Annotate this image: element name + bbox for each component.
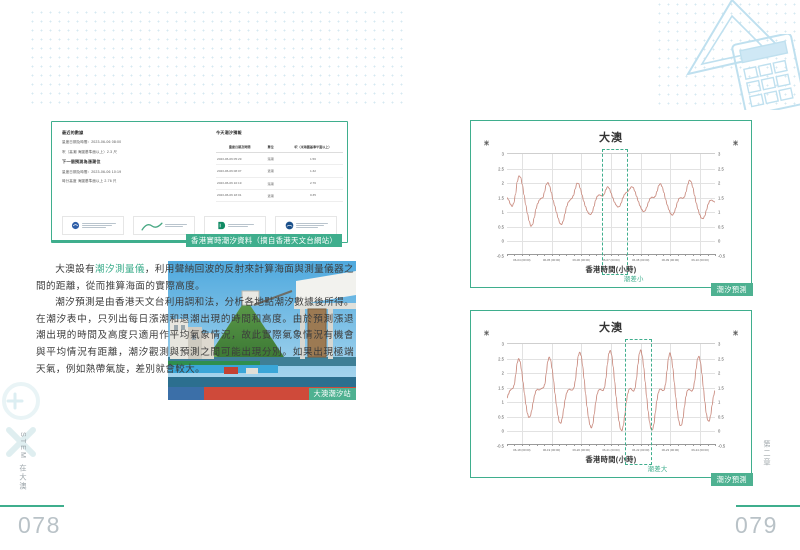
table-cell: 2023-06-06 08:07 (216, 165, 263, 177)
y-axis-tick-left: 0 (502, 239, 504, 244)
x-axis-tick: 06-09 (00:00) (662, 258, 679, 262)
photo-caption: 大澳潮汐站 (309, 388, 356, 400)
latest-data-line-2: 呎（高潮 海圖基準面以上）2.3 尺 (62, 150, 212, 155)
y-axis-tick-left: 1 (502, 400, 504, 405)
logo-tai-o-studio (133, 216, 195, 235)
x-axis-tick: 06-21 (00:00) (602, 448, 619, 452)
logo-hko (62, 216, 124, 235)
y-axis-tick-left: 2.5 (498, 356, 504, 361)
left-page: 最近的數據 量度日期及時間：2023-06-06 08:00 呎（高潮 海圖基準… (0, 0, 400, 550)
y-axis-tick-left: 1.5 (498, 385, 504, 390)
dot-grid-decoration-right (655, 0, 800, 108)
y-axis-tick-right: 1.5 (718, 195, 724, 200)
chapter-side-label-left: STEM 在大澳 (18, 432, 28, 492)
chart-badge-bottom: 潮汐預測 (711, 473, 753, 486)
y-axis-tick-left: 0.5 (498, 224, 504, 229)
y-axis-tick-left: 3 (502, 152, 504, 157)
table-cell: 退潮 (263, 165, 278, 177)
logo-text-lines (228, 224, 254, 227)
x-axis-tick: 06-20 (00:00) (573, 448, 590, 452)
paragraph-1-pre: 大澳設有 (55, 264, 95, 275)
y-axis-tick-left: 2.5 (498, 166, 504, 171)
x-axis-tick: 06-18 (00:00) (513, 448, 530, 452)
y-axis-tick-right: -0.5 (718, 254, 725, 259)
tide-series-line (507, 344, 715, 446)
y-axis-tick-right: 2.5 (718, 166, 724, 171)
table-row: 2023-06-06 18:01退潮0.35 (216, 189, 343, 201)
logo-text-lines (165, 224, 187, 227)
x-axis-tick: 06-10 (00:00) (691, 258, 708, 262)
hko-logo-icon (71, 221, 80, 230)
y-axis-tick-right: 3 (718, 342, 720, 347)
table-cell: 2023-06-06 10:19 (216, 177, 263, 189)
screenshot-caption: 香港實時潮汐資料（摘自香港天文台網站） (186, 234, 342, 247)
paragraph-1: 大澳設有潮汐測量儀，利用聲納回波的反射來計算海面與測量儀器之間的距離，從而推算海… (36, 262, 354, 295)
highlight-annotation: 潮差大 (648, 464, 668, 473)
paragraph-1-highlight: 潮汐測量儀 (95, 264, 145, 275)
footer-rule-left (0, 505, 64, 507)
table-cell: 2023-06-06 18:01 (216, 189, 263, 201)
y-axis-tick-right: 1 (718, 400, 720, 405)
y-axis-unit-left-top: 米 (484, 140, 489, 147)
y-axis-tick-right: -0.5 (718, 444, 725, 449)
table-cell: 1.56 (278, 153, 343, 165)
y-axis-unit-right-top: 米 (733, 140, 738, 147)
highlight-annotation: 潮差小 (624, 274, 644, 283)
jockey-club-logo-icon (217, 221, 226, 230)
x-axis-tick-mark (715, 254, 716, 256)
y-axis-tick-left: 3 (502, 342, 504, 347)
x-axis-tick: 06-05 (00:00) (543, 258, 560, 262)
table-cell: 2023-06-06 05:29 (216, 153, 263, 165)
dot-grid-decoration (28, 8, 408, 108)
column-header-datetime: 量度日期及時間 (216, 141, 263, 153)
logo-jockey-club (204, 216, 266, 235)
triangle-ruler-icon (672, 0, 792, 80)
x-axis-tick-mark (715, 444, 716, 446)
body-copy: 大澳設有潮汐測量儀，利用聲納回波的反射來計算海面與測量儀器之間的距離，從而推算海… (36, 262, 354, 378)
y-axis-tick-left: 1 (502, 210, 504, 215)
table-cell: 0.35 (278, 189, 343, 201)
y-axis-tick-left: 2 (502, 371, 504, 376)
today-forecast-column: 今天潮汐預報 量度日期及時間 單位 呎（米海圖基準平面以上） 2023-06-0… (216, 130, 343, 202)
caption-rule (51, 240, 187, 242)
logo-text-lines (82, 223, 116, 228)
paragraph-2: 潮汐預測是由香港天文台利用調和法，分析各地點潮汐數據後所得。在潮汐表中，只列出每… (36, 295, 354, 378)
chart-title-bottom: 大澳 (471, 319, 751, 335)
logo-text-lines (296, 223, 328, 228)
next-forecast-line-2: 時分高度 海圖基準面以上 2.76 尺 (62, 179, 212, 184)
y-axis-tick-right: 1 (718, 210, 720, 215)
y-axis-tick-left: 0.5 (498, 414, 504, 419)
eduhk-logo-icon (285, 221, 294, 230)
table-body: 2023-06-06 05:29漲潮1.562023-06-06 08:07退潮… (216, 153, 343, 202)
y-axis-tick-left: -0.5 (497, 254, 504, 259)
table-cell: 漲潮 (263, 153, 278, 165)
table-header-row: 量度日期及時間 單位 呎（米海圖基準平面以上） (216, 141, 343, 153)
y-axis-tick-left: -0.5 (497, 444, 504, 449)
y-axis-tick-right: 2 (718, 371, 720, 376)
y-axis-unit-right-bottom: 米 (733, 330, 738, 337)
y-axis-unit-left-bottom: 米 (484, 330, 489, 337)
chart-title-top: 大澳 (471, 129, 751, 145)
neap-tide-chart-card: 大澳 米 米 332.52.5221.51.5110.50.500-0.5-0.… (470, 120, 752, 288)
y-axis-tick-right: 0.5 (718, 224, 724, 229)
table-row: 2023-06-06 08:07退潮1.32 (216, 165, 343, 177)
x-axis-tick: 06-08 (00:00) (632, 258, 649, 262)
latest-data-column: 最近的數據 量度日期及時間：2023-06-06 08:00 呎（高潮 海圖基準… (62, 130, 212, 189)
highlight-box (602, 149, 628, 275)
latest-data-heading: 最近的數據 (62, 130, 212, 136)
y-axis-tick-left: 2 (502, 181, 504, 186)
x-axis-tick: 06-19 (00:00) (543, 448, 560, 452)
calculator-icon (730, 34, 800, 110)
ring-decoration-icon (0, 380, 42, 422)
mountain-logo-icon (141, 220, 163, 232)
y-axis-tick-left: 1.5 (498, 195, 504, 200)
plus-mark-icon (6, 392, 24, 410)
page-number-right: 079 (735, 512, 778, 539)
x-axis-tick: 06-23 (00:00) (662, 448, 679, 452)
plot-area-bottom: 332.52.5221.51.5110.50.500-0.5-0.506-18 … (507, 343, 715, 445)
partner-logo-strip (62, 216, 337, 235)
y-axis-tick-right: 2.5 (718, 356, 724, 361)
page-number-left: 078 (18, 512, 61, 539)
table-row: 2023-06-06 10:19漲潮2.76 (216, 177, 343, 189)
x-axis-tick: 06-24 (00:00) (691, 448, 708, 452)
column-header-height: 呎（米海圖基準平面以上） (278, 141, 343, 153)
column-header-unit: 單位 (263, 141, 278, 153)
y-axis-tick-right: 0 (718, 239, 720, 244)
y-axis-tick-right: 2 (718, 181, 720, 186)
screenshot-content: 最近的數據 量度日期及時間：2023-06-06 08:00 呎（高潮 海圖基準… (56, 126, 343, 238)
x-axis-label-top: 香港時間(小時) (471, 265, 751, 275)
latest-data-line-1: 量度日期及時間：2023-06-06 08:00 (62, 140, 212, 145)
logo-eduhk (275, 216, 337, 235)
highlight-box (625, 339, 652, 465)
table-cell: 1.32 (278, 165, 343, 177)
footer-rule-right (736, 505, 800, 507)
tide-forecast-table: 量度日期及時間 單位 呎（米海圖基準平面以上） 2023-06-06 05:29… (216, 141, 343, 202)
table-row: 2023-06-06 05:29漲潮1.56 (216, 153, 343, 165)
x-axis-tick: 06-06 (00:00) (573, 258, 590, 262)
today-forecast-heading: 今天潮汐預報 (216, 130, 343, 136)
spring-tide-chart-card: 大澳 米 米 332.52.5221.51.5110.50.500-0.5-0.… (470, 310, 752, 478)
x-axis-tick: 06-04 (00:00) (513, 258, 530, 262)
y-axis-tick-right: 0.5 (718, 414, 724, 419)
hko-tide-screenshot-card: 最近的數據 量度日期及時間：2023-06-06 08:00 呎（高潮 海圖基準… (51, 121, 348, 243)
table-cell: 漲潮 (263, 177, 278, 189)
y-axis-tick-left: 0 (502, 429, 504, 434)
y-axis-tick-right: 1.5 (718, 385, 724, 390)
chapter-side-label-right: 第二章 (762, 440, 772, 468)
book-spread: 最近的數據 量度日期及時間：2023-06-06 08:00 呎（高潮 海圖基準… (0, 0, 800, 550)
y-axis-tick-right: 0 (718, 429, 720, 434)
y-axis-tick-right: 3 (718, 152, 720, 157)
x-axis-label-bottom: 香港時間(小時) (471, 455, 751, 465)
next-forecast-heading: 下一個預測為漲潮位 (62, 159, 212, 165)
chart-badge-top: 潮汐預測 (711, 283, 753, 296)
table-cell: 2.76 (278, 177, 343, 189)
table-cell: 退潮 (263, 189, 278, 201)
next-forecast-line-1: 量度日期及時間：2023-06-06 10:19 (62, 170, 212, 175)
plot-area-top: 332.52.5221.51.5110.50.500-0.5-0.506-04 … (507, 153, 715, 255)
